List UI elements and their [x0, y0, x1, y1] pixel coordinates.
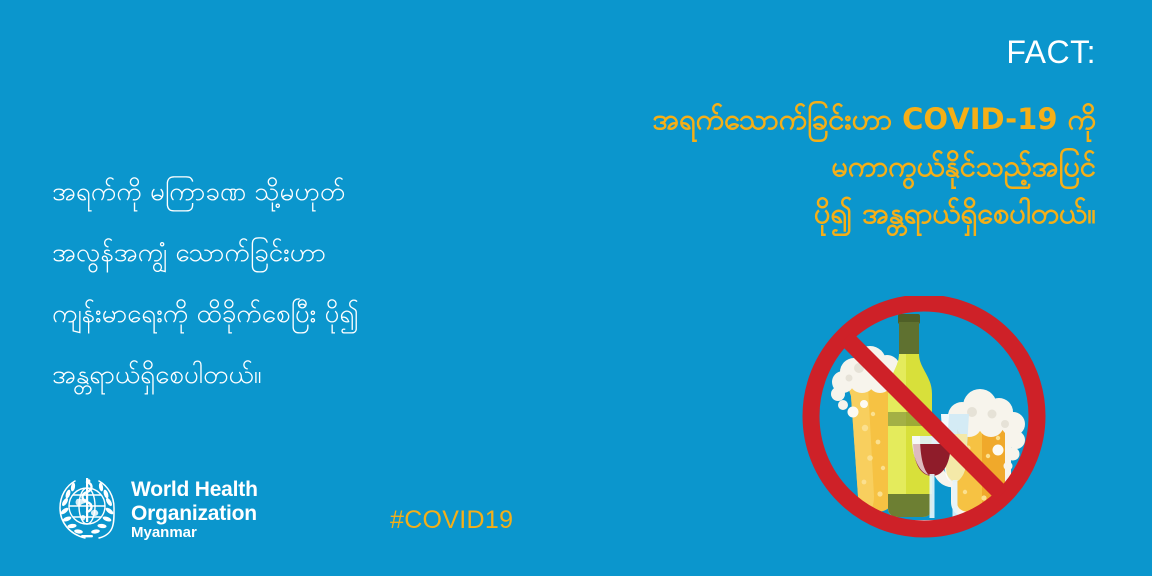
- body-line-3: ကျန်းမာရေးကို ထိခိုက်စေပြီး ပို၍: [52, 284, 522, 345]
- who-wordmark-line-2: Organization: [131, 502, 258, 526]
- poster-canvas: FACT: အရက်သောက်ခြင်းဟာ COVID-19 ကို မကာက…: [0, 0, 1152, 576]
- who-country-label: Myanmar: [131, 525, 258, 542]
- headline-text: အရက်သောက်ခြင်းဟာ COVID-19 ကို မကာကွယ်နို…: [476, 96, 1096, 237]
- who-wordmark: World Health Organization Myanmar: [131, 474, 258, 542]
- body-line-2: အလွန်အကျွံ သောက်ခြင်းဟာ: [52, 223, 522, 284]
- headline-line-2: မကာကွယ်နိုင်သည့်အပြင်: [476, 143, 1096, 190]
- body-text: အရက်ကို မကြာခဏ သို့မဟုတ် အလွန်အကျွံ သောက…: [52, 162, 522, 406]
- who-logo: World Health Organization Myanmar: [55, 474, 258, 544]
- body-line-1: အရက်ကို မကြာခဏ သို့မဟုတ်: [52, 162, 522, 223]
- who-wordmark-line-1: World Health: [131, 478, 258, 502]
- hashtag-covid19: #COVID19: [390, 506, 513, 535]
- body-line-4: အန္တရာယ်ရှိစေပါတယ်။: [52, 345, 522, 406]
- headline-line-3: ပို၍ အန္တရာယ်ရှိစေပါတယ်။: [476, 190, 1096, 237]
- fact-label: FACT:: [1006, 36, 1096, 68]
- who-emblem-icon: [55, 474, 119, 544]
- no-alcohol-illustration: [802, 296, 1057, 546]
- headline-line-1: အရက်သောက်ခြင်းဟာ COVID-19 ကို: [476, 96, 1096, 143]
